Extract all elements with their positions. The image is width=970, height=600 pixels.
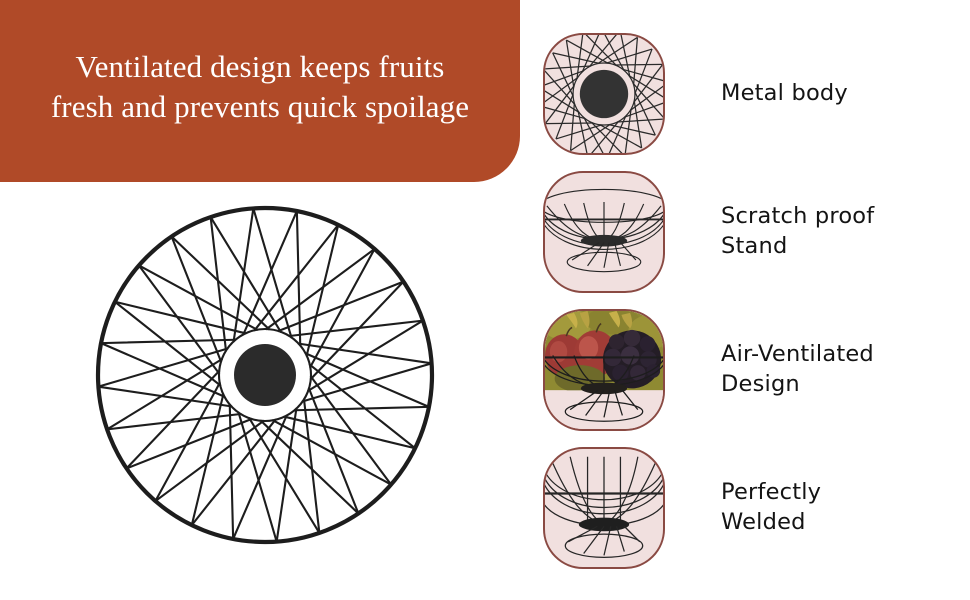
feature-row-scratch-proof-stand[interactable]: Scratch proof Stand <box>543 171 953 293</box>
feature-list: Metal body <box>543 33 953 569</box>
hero-product-image <box>78 188 452 562</box>
thumbnail-perfectly-welded[interactable] <box>543 447 665 569</box>
feature-label-perfectly-welded: Perfectly Welded <box>721 478 953 538</box>
thumbnail-air-ventilated-design[interactable] <box>543 309 665 431</box>
feature-label-air-ventilated-design: Air-Ventilated Design <box>721 340 953 400</box>
headline-banner: Ventilated design keeps fruits fresh and… <box>0 0 520 182</box>
feature-row-perfectly-welded[interactable]: Perfectly Welded <box>543 447 953 569</box>
infographic-canvas: Ventilated design keeps fruits fresh and… <box>0 0 970 600</box>
feature-label-scratch-proof-stand: Scratch proof Stand <box>721 202 953 262</box>
feature-label-metal-body: Metal body <box>721 79 953 109</box>
thumbnail-metal-body[interactable] <box>543 33 665 155</box>
headline-text: Ventilated design keeps fruits fresh and… <box>25 47 495 134</box>
feature-row-metal-body[interactable]: Metal body <box>543 33 953 155</box>
feature-row-air-ventilated-design[interactable]: Air-Ventilated Design <box>543 309 953 431</box>
thumbnail-scratch-proof-stand[interactable] <box>543 171 665 293</box>
